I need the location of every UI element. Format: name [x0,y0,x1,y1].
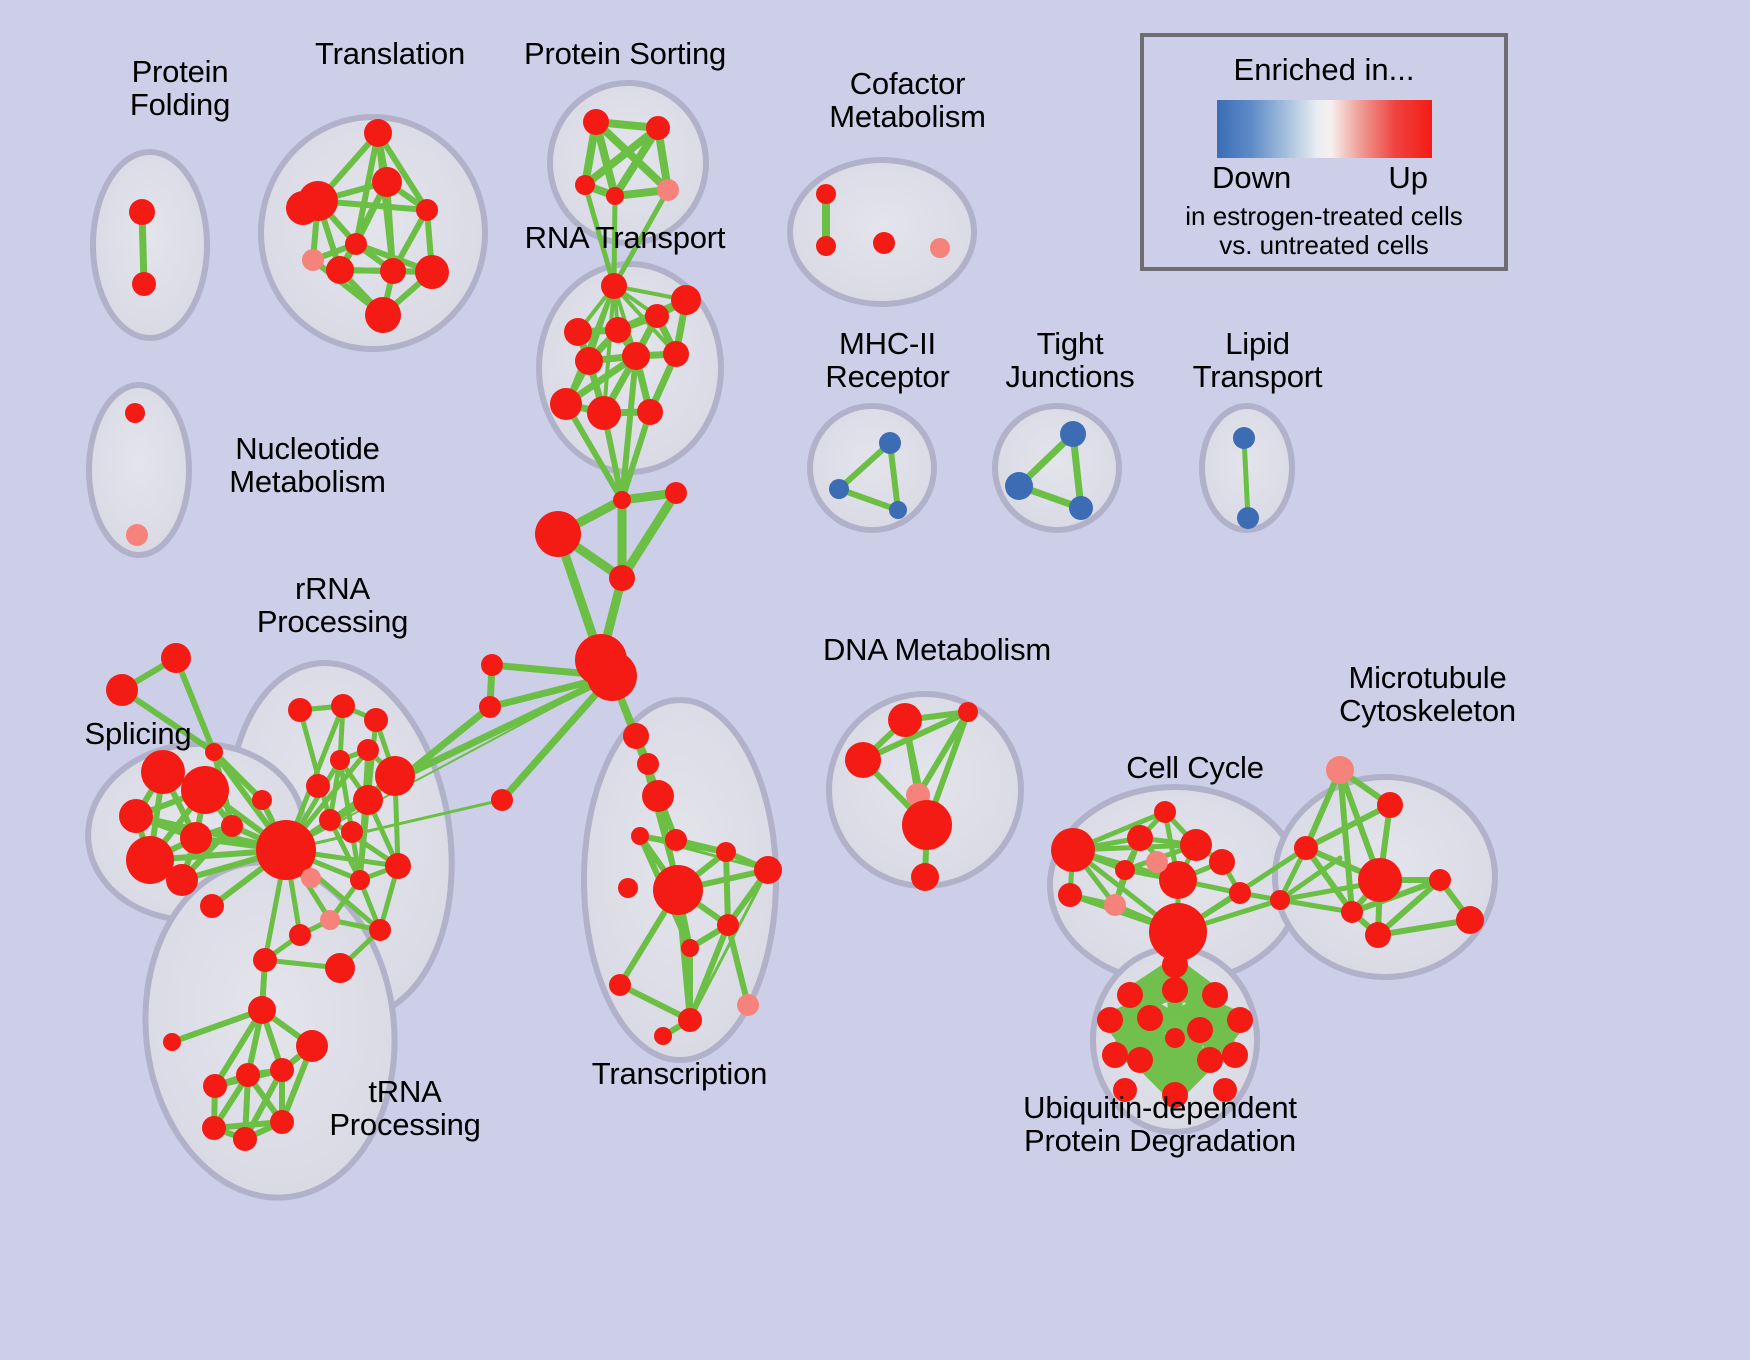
hull-cofactor [790,160,974,304]
cluster-label-cell-cycle: Cell Cycle [1105,752,1285,785]
legend-colorbar [1217,100,1432,158]
legend-subtitle-1: in estrogen-treated cells [1144,202,1504,231]
cluster-label-microtubule-cytoskeleton: Microtubule Cytoskeleton [1305,662,1550,728]
cluster-label-cofactor-metabolism: Cofactor Metabolism [800,68,1015,134]
legend-down-label: Down [1212,160,1291,196]
legend-endpoints: Down Up [1204,160,1444,198]
cluster-label-translation: Translation [290,38,490,71]
hull-protein-folding [93,152,207,338]
legend-subtitle-2: vs. untreated cells [1144,231,1504,260]
cluster-label-nucleotide-metabolism: Nucleotide Metabolism [200,433,415,499]
cluster-label-transcription: Transcription [572,1058,787,1091]
hull-tight-junctions [995,406,1119,530]
cluster-label-ubiquitin-protein-degradation: Ubiquitin-dependent Protein Degradation [995,1092,1325,1158]
cluster-label-tight-junctions: Tight Junctions [985,328,1155,394]
cluster-label-splicing: Splicing [58,718,218,751]
cluster-label-rrna-processing: rRNA Processing [245,573,420,639]
legend-up-label: Up [1388,160,1428,196]
cluster-label-trna-processing: tRNA Processing [310,1076,500,1142]
legend-title: Enriched in... [1144,52,1504,88]
hull-protein-sorting [550,83,706,243]
cluster-label-protein-folding: Protein Folding [85,56,275,122]
cluster-label-rna-transport: RNA Transport [505,222,745,255]
cluster-label-mhc-ii-receptor: MHC-II Receptor [795,328,980,394]
hull-mhc [810,406,934,530]
enrichment-map-figure: Protein Folding Translation Protein Sort… [0,0,1750,1360]
cluster-label-protein-sorting: Protein Sorting [505,38,745,71]
cluster-label-dna-metabolism: DNA Metabolism [812,634,1062,667]
cluster-label-lipid-transport: Lipid Transport [1175,328,1340,394]
legend-box: Enriched in... Down Up in estrogen-treat… [1140,33,1508,271]
